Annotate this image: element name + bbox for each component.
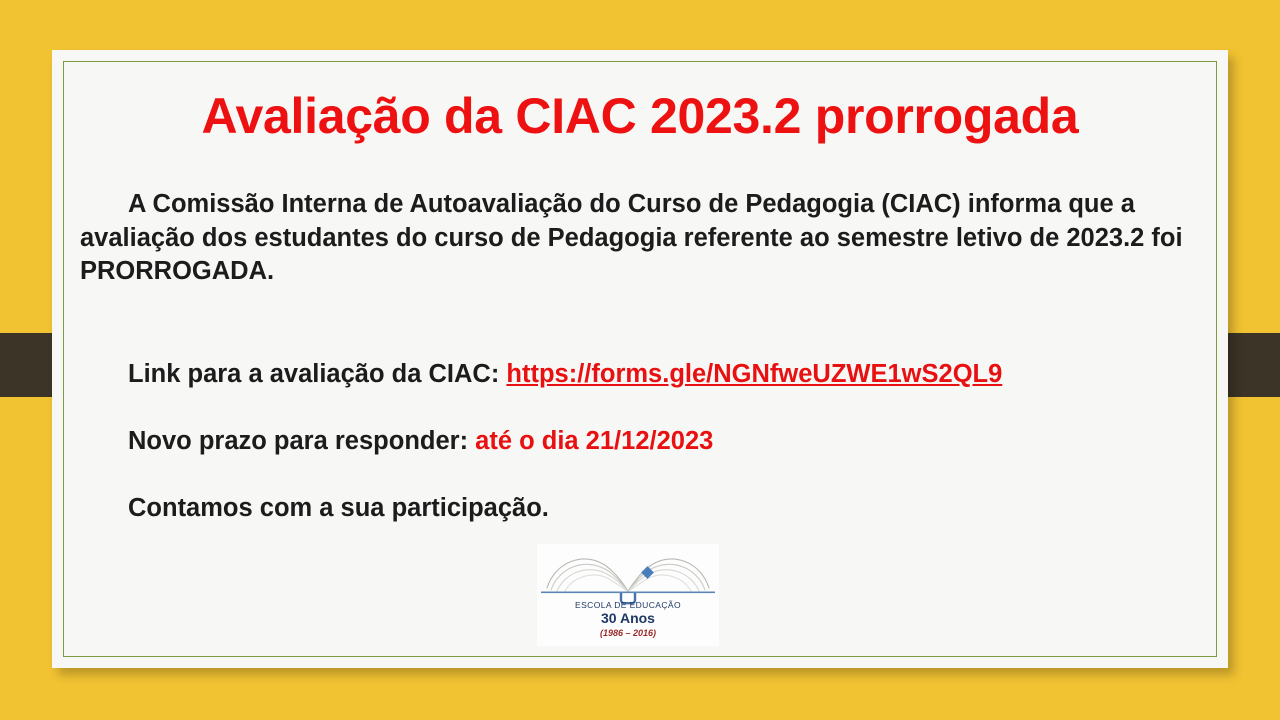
deadline-value: até o dia 21/12/2023	[475, 427, 713, 455]
slide-content: Avaliação da CIAC 2023.2 prorrogada A Co…	[52, 50, 1228, 668]
escola-de-educacao-logo: ESCOLA DE EDUCAÇÃO 30 Anos (1986 – 2016)	[537, 544, 719, 646]
logo-caption-main: 30 Anos	[537, 610, 719, 626]
slide-title: Avaliação da CIAC 2023.2 prorrogada	[52, 87, 1228, 145]
presentation-slide: Avaliação da CIAC 2023.2 prorrogada A Co…	[0, 0, 1280, 720]
link-line: Link para a avaliação da CIAC: https://f…	[128, 360, 1002, 389]
body-paragraph: A Comissão Interna de Autoavaliação do C…	[80, 188, 1204, 289]
logo-caption-years: (1986 – 2016)	[537, 628, 719, 638]
closing-line: Contamos com a sua participação.	[128, 494, 549, 523]
logo-caption-top: ESCOLA DE EDUCAÇÃO	[537, 600, 719, 610]
open-book-icon	[537, 544, 719, 606]
deadline-line: Novo prazo para responder: até o dia 21/…	[128, 427, 713, 456]
link-line-label: Link para a avaliação da CIAC:	[128, 360, 506, 388]
deadline-label: Novo prazo para responder:	[128, 427, 475, 455]
ciac-form-link[interactable]: https://forms.gle/NGNfweUZWE1wS2QL9	[506, 360, 1002, 388]
slide-content-card: Avaliação da CIAC 2023.2 prorrogada A Co…	[52, 50, 1228, 668]
